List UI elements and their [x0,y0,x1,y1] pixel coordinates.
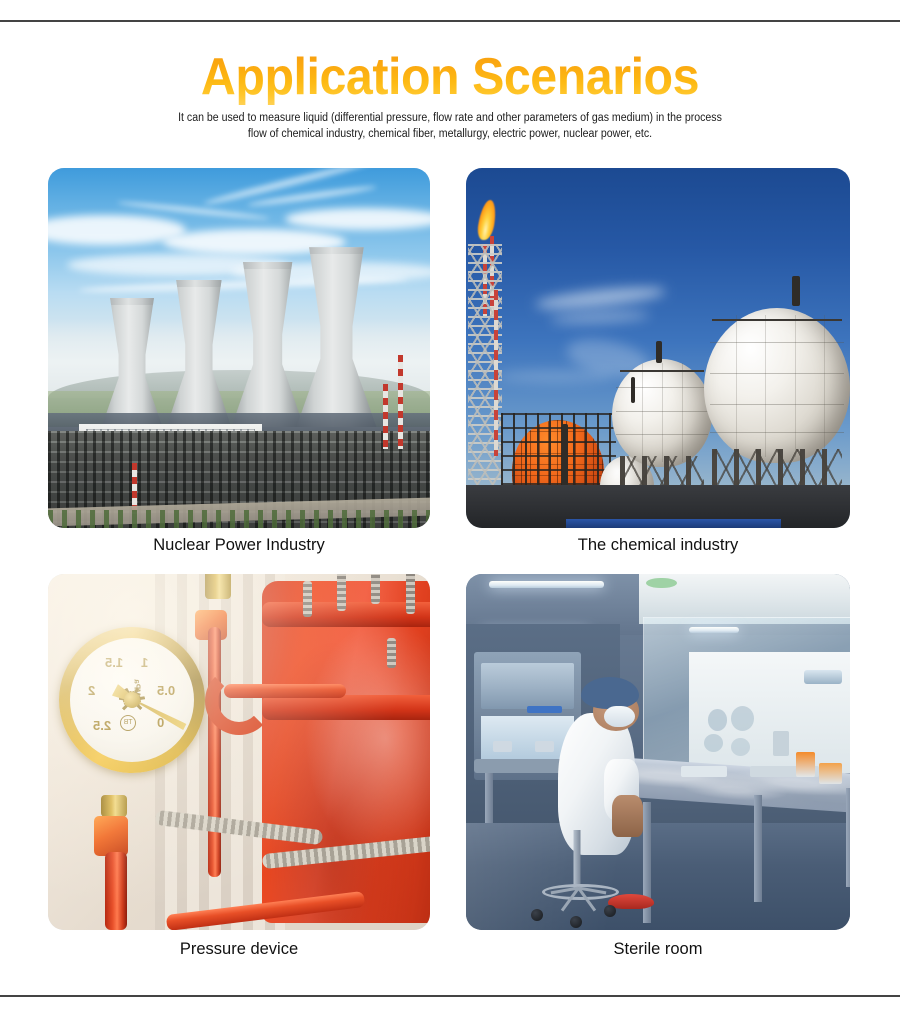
cabinet-control-panel[interactable] [527,706,562,713]
gauge-stem-brass [101,795,127,817]
stool-caster [531,909,543,921]
bench-leg [846,788,850,888]
nuclear-power-plant-scene [48,168,430,528]
cabinet-leg [485,773,493,823]
hood-shelf-tray [804,670,842,684]
gauge-needle-hub [124,692,140,708]
gauge-number-2: 2 [88,683,95,698]
sphere-vent-pipe [792,276,800,306]
cloud [285,208,430,230]
face-mask [604,706,635,727]
scenario-image-sterile [466,574,850,930]
hair-cap [581,677,639,709]
gauge-number-05: 0.5 [157,683,175,698]
ceiling-light [489,581,604,588]
tree-line [48,510,430,528]
scenario-caption-sterile: Sterile room [466,939,850,959]
sphere-walkway [712,319,843,321]
gauge-number-25: 2.5 [93,718,111,733]
scenario-image-nuclear [48,168,430,528]
flange-bolt [387,638,396,668]
pressure-device-scene: 0 0.5 1 1.5 2 2.5 MPa TB [48,574,430,930]
chemical-plant-scene [466,168,850,528]
exhaust-stack [398,355,403,449]
flange-bolt [303,581,312,617]
floor [466,823,850,930]
pipe-elbow [205,667,273,735]
cabinet-item [535,741,554,752]
blue-fence [566,519,781,528]
rear-cabinet-sash [481,663,573,709]
vertical-pipe [208,627,221,876]
brass-fitting [205,574,231,599]
scenario-caption-chemical: The chemical industry [466,535,850,555]
horizontal-pipe [224,684,346,698]
exhaust-stack [383,384,388,449]
gas-sphere-middle [612,359,712,467]
flange-bolt [337,574,346,611]
hood-light [689,627,739,633]
hood-port [731,706,754,731]
reagent-rack [819,763,842,784]
scenario-image-chemical [466,168,850,528]
scenario-card-sterile[interactable] [466,574,850,930]
gauge-brand-mark: TB [120,715,136,731]
flange-bolt [406,574,415,614]
reagent-bottle [796,752,815,777]
valve-flange [262,695,430,720]
sterile-room-scene [466,574,850,930]
hood-port [731,738,750,756]
gas-sphere-front [704,308,850,463]
scenario-card-nuclear[interactable] [48,168,430,528]
flange-bolt [371,574,380,604]
gauge-stem-valve [94,816,128,856]
scenario-caption-pressure: Pressure device [48,939,430,959]
riser-pipe [631,377,635,403]
cloud [497,370,612,383]
scenario-card-pressure[interactable]: 0 0.5 1 1.5 2 2.5 MPa TB [48,574,430,930]
cabinet-item [493,741,512,752]
gauge-dial-face: 0 0.5 1 1.5 2 2.5 MPa TB [70,638,194,762]
bench-item [681,766,727,777]
red-valve-body [262,581,430,923]
scenario-gallery: Nuclear Power Industry [0,0,900,1012]
bench-leg [754,795,762,902]
scenario-caption-nuclear: Nuclear Power Industry [48,535,430,555]
scenario-card-chemical[interactable] [466,168,850,528]
gauge-number-1: 1 [141,655,148,670]
gauge-stem-pipe [105,852,127,930]
sphere-walkway [620,370,704,372]
stool-caster [570,916,582,928]
wall-dispenser[interactable] [773,731,788,756]
sphere-vent-pipe [656,341,662,363]
pressure-gauge: 0 0.5 1 1.5 2 2.5 MPa TB [59,627,205,773]
scenario-image-pressure: 0 0.5 1 1.5 2 2.5 MPa TB [48,574,430,930]
hood-port [708,709,727,730]
gauge-number-15: 1.5 [105,655,123,670]
flare-riser [494,290,498,456]
